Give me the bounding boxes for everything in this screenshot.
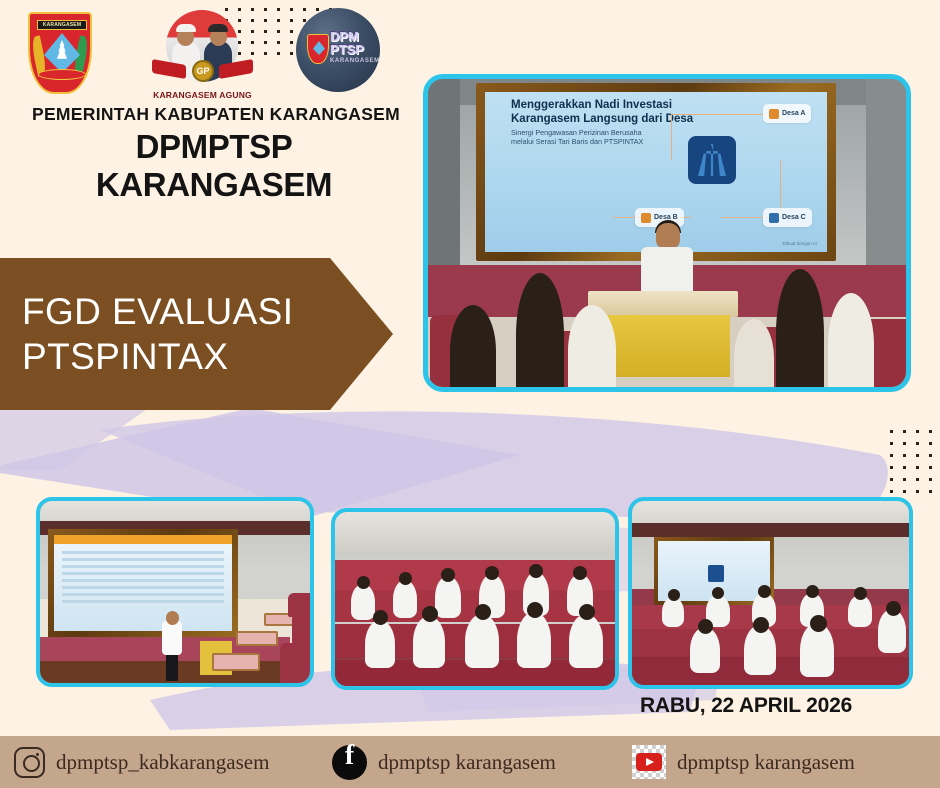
crest-label: KARANGASEM xyxy=(37,20,87,30)
instagram-handle: dpmptsp_kabkarangasem xyxy=(56,750,269,775)
dpm-wordmark-sub: KARANGASEM xyxy=(330,58,378,64)
social-instagram[interactable]: dpmptsp_kabkarangasem xyxy=(14,747,332,778)
dpm-wordmark-line2: PTSP xyxy=(330,43,378,56)
slide-node-desa-c: Desa C xyxy=(763,208,812,227)
slide-node-desa-a: Desa A xyxy=(763,104,811,123)
slide-credit: Dibuat dengan AI xyxy=(782,241,817,246)
hero-photo-presentation: Menggerakkan Nadi Investasi Karangasem L… xyxy=(423,74,911,392)
karangasem-regency-crest: KARANGASEM xyxy=(28,12,92,100)
agung-monogram: GP xyxy=(192,60,214,82)
facebook-icon xyxy=(332,745,367,780)
social-facebook[interactable]: dpmptsp karangasem xyxy=(332,745,632,780)
agung-label: KARANGASEM AGUNG xyxy=(150,90,255,100)
photo-speaker-at-screen xyxy=(36,497,314,687)
slide-node-label-a: Desa A xyxy=(782,110,805,117)
shield-icon xyxy=(769,213,779,223)
youtube-icon xyxy=(632,745,666,779)
photo-audience-seated xyxy=(331,508,619,690)
dpmptsp-round-logo: DPM PTSP KARANGASEM xyxy=(296,8,380,92)
slide-center-temple-icon xyxy=(688,136,736,184)
social-youtube[interactable]: dpmptsp karangasem xyxy=(632,745,932,779)
event-date: RABU, 22 APRIL 2026 xyxy=(560,694,932,718)
house-icon xyxy=(641,213,651,223)
dot-grid-right xyxy=(890,430,936,500)
banner-line-1: FGD EVALUASI xyxy=(22,289,393,334)
instagram-icon xyxy=(14,747,45,778)
header-logo-row: KARANGASEM GP KARANGASEM AGUNG DPM PTSP … xyxy=(0,0,420,115)
slide-node-label-c: Desa C xyxy=(782,214,806,221)
poster-canvas: KARANGASEM GP KARANGASEM AGUNG DPM PTSP … xyxy=(0,0,940,788)
house-icon xyxy=(769,109,779,119)
event-title-banner: FGD EVALUASI PTSPINTAX xyxy=(0,258,393,410)
youtube-handle: dpmptsp karangasem xyxy=(677,750,855,775)
header-subtitle: PEMERINTAH KABUPATEN KARANGASEM xyxy=(26,104,406,125)
banner-line-2: PTSPINTAX xyxy=(22,334,393,379)
footer-bar: dpmptsp_kabkarangasem dpmptsp karangasem… xyxy=(0,736,940,788)
photo-hall-wide-view xyxy=(628,497,913,689)
header-title: DPMPTSP KARANGASEM xyxy=(14,128,414,204)
facebook-handle: dpmptsp karangasem xyxy=(378,750,556,775)
slide-title-line1: Menggerakkan Nadi Investasi xyxy=(511,99,751,113)
karangasem-agung-emblem: GP KARANGASEM AGUNG xyxy=(150,8,255,104)
